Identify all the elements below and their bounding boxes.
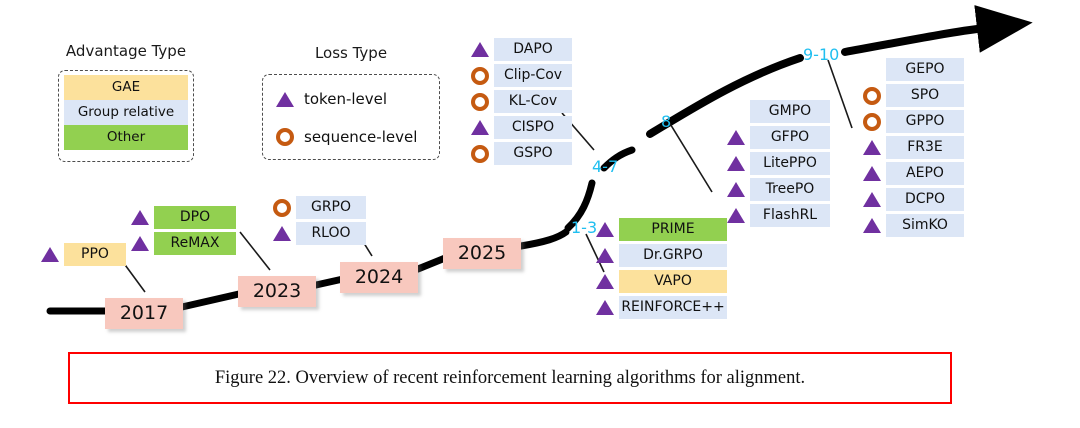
algorithm-box[interactable]: KL-Cov	[494, 90, 572, 113]
loss-legend-label: token-level	[304, 90, 387, 108]
gepo-column: GEPOSPOGPPOFR3EAEPODCPOSimKO	[862, 58, 964, 240]
triangle-icon	[40, 247, 60, 262]
loss-legend-box: token-level sequence-level	[262, 74, 440, 160]
algorithm-box[interactable]: GFPO	[750, 126, 830, 149]
advantage-legend-box: GAE Group relative Other	[58, 70, 194, 162]
year-chip[interactable]: 2025	[443, 238, 521, 269]
algorithm-box[interactable]: GEPO	[886, 58, 964, 81]
algorithm-row[interactable]: GRPO	[272, 196, 366, 219]
algorithm-row[interactable]: AEPO	[862, 162, 964, 185]
algorithm-row[interactable]: KL-Cov	[470, 90, 572, 113]
algorithm-box[interactable]: Dr.GRPO	[619, 244, 727, 267]
triangle-icon	[130, 236, 150, 251]
algorithm-row[interactable]: GSPO	[470, 142, 572, 165]
algorithm-row[interactable]: GMPO	[726, 100, 830, 123]
triangle-icon	[595, 300, 615, 315]
triangle-icon	[862, 218, 882, 233]
algorithm-box[interactable]: PPO	[64, 243, 126, 266]
timeline-spine-5	[521, 232, 566, 246]
algorithm-box[interactable]: DPO	[154, 206, 236, 229]
algorithm-row[interactable]: FR3E	[862, 136, 964, 159]
leader-line-9-10	[828, 60, 852, 128]
algorithm-box[interactable]: VAPO	[619, 270, 727, 293]
algorithm-row[interactable]: TreePO	[726, 178, 830, 201]
year-chip[interactable]: 2023	[238, 276, 316, 307]
figure-canvas: Advantage Type GAE Group relative Other …	[0, 0, 1080, 428]
timeline-arrow	[845, 28, 985, 52]
algorithm-box[interactable]: RLOO	[296, 222, 366, 245]
algorithm-box[interactable]: LitePPO	[750, 152, 830, 175]
ring-icon	[470, 67, 490, 85]
algorithm-row[interactable]: Dr.GRPO	[595, 244, 727, 267]
triangle-icon	[862, 192, 882, 207]
algorithm-row[interactable]: GPPO	[862, 110, 964, 133]
group-label: 8	[661, 112, 671, 131]
group-label: 1-3	[571, 218, 597, 237]
algorithm-row[interactable]: DPO	[130, 206, 236, 229]
algorithm-row[interactable]: FlashRL	[726, 204, 830, 227]
triangle-icon	[470, 42, 490, 57]
year-chip[interactable]: 2024	[340, 262, 418, 293]
algorithm-row[interactable]: LitePPO	[726, 152, 830, 175]
ppo-column: PPO	[40, 243, 126, 269]
triangle-icon	[130, 210, 150, 225]
algorithm-box[interactable]: FlashRL	[750, 204, 830, 227]
triangle-icon	[275, 92, 295, 107]
algorithm-row[interactable]: ReMAX	[130, 232, 236, 255]
algorithm-box[interactable]: FR3E	[886, 136, 964, 159]
advantage-legend-item-other: Other	[64, 125, 188, 150]
prime-column: PRIMEDr.GRPOVAPOREINFORCE++	[595, 218, 727, 322]
group-label: 9-10	[803, 45, 839, 64]
leader-line-2023	[240, 232, 270, 270]
gmpo-column: GMPOGFPOLitePPOTreePOFlashRL	[726, 100, 830, 230]
algorithm-row[interactable]: Clip-Cov	[470, 64, 572, 87]
algorithm-row[interactable]: SimKO	[862, 214, 964, 237]
triangle-icon	[862, 140, 882, 155]
algorithm-box[interactable]: GMPO	[750, 100, 830, 123]
algorithm-box[interactable]: TreePO	[750, 178, 830, 201]
advantage-legend-item-group-relative: Group relative	[64, 100, 188, 125]
figure-caption-box: Figure 22. Overview of recent reinforcem…	[68, 352, 952, 404]
ring-icon	[272, 199, 292, 217]
triangle-icon	[726, 182, 746, 197]
algorithm-box[interactable]: GPPO	[886, 110, 964, 133]
algorithm-row[interactable]: DCPO	[862, 188, 964, 211]
leader-line-8	[669, 122, 712, 192]
triangle-icon	[726, 208, 746, 223]
algorithm-row[interactable]: DAPO	[470, 38, 572, 61]
advantage-legend-item-gae: GAE	[64, 75, 188, 100]
algorithm-box[interactable]: PRIME	[619, 218, 727, 241]
loss-legend-item-token-level: token-level	[271, 80, 431, 118]
algorithm-box[interactable]: AEPO	[886, 162, 964, 185]
algorithm-row[interactable]: GEPO	[862, 58, 964, 81]
triangle-icon	[272, 226, 292, 241]
algorithm-row[interactable]: RLOO	[272, 222, 366, 245]
triangle-icon	[595, 248, 615, 263]
loss-legend-title: Loss Type	[262, 44, 440, 62]
triangle-icon	[726, 130, 746, 145]
algorithm-row[interactable]: PPO	[40, 243, 126, 266]
ring-icon	[862, 87, 882, 105]
algorithm-box[interactable]: DCPO	[886, 188, 964, 211]
grpo-rloo-column: GRPORLOO	[272, 196, 366, 248]
algorithm-row[interactable]: GFPO	[726, 126, 830, 149]
algorithm-box[interactable]: GSPO	[494, 142, 572, 165]
ring-icon	[470, 145, 490, 163]
triangle-icon	[595, 274, 615, 289]
ring-icon	[862, 113, 882, 131]
loss-legend-label: sequence-level	[304, 128, 417, 146]
algorithm-box[interactable]: ReMAX	[154, 232, 236, 255]
advantage-legend-title: Advantage Type	[58, 42, 194, 60]
algorithm-box[interactable]: SPO	[886, 84, 964, 107]
year-chip[interactable]: 2017	[105, 298, 183, 329]
algorithm-row[interactable]: CISPO	[470, 116, 572, 139]
triangle-icon	[862, 166, 882, 181]
loss-legend-item-sequence-level: sequence-level	[271, 118, 431, 156]
algorithm-row[interactable]: SPO	[862, 84, 964, 107]
algorithm-box[interactable]: GRPO	[296, 196, 366, 219]
triangle-icon	[470, 120, 490, 135]
algorithm-row[interactable]: REINFORCE++	[595, 296, 727, 319]
triangle-icon	[726, 156, 746, 171]
group-label: 4-7	[592, 157, 618, 176]
algorithm-box[interactable]: CISPO	[494, 116, 572, 139]
algorithm-row[interactable]: VAPO	[595, 270, 727, 293]
algorithm-box[interactable]: DAPO	[494, 38, 572, 61]
ring-icon	[470, 93, 490, 111]
algorithm-box[interactable]: REINFORCE++	[619, 296, 727, 319]
dapo-column: DAPOClip-CovKL-CovCISPOGSPO	[470, 38, 572, 168]
figure-caption-text: Figure 22. Overview of recent reinforcem…	[215, 368, 805, 389]
algorithm-box[interactable]: Clip-Cov	[494, 64, 572, 87]
triangle-icon	[595, 222, 615, 237]
algorithm-row[interactable]: PRIME	[595, 218, 727, 241]
dpo-remax-column: DPOReMAX	[130, 206, 236, 258]
ring-icon	[275, 128, 295, 146]
algorithm-box[interactable]: SimKO	[886, 214, 964, 237]
